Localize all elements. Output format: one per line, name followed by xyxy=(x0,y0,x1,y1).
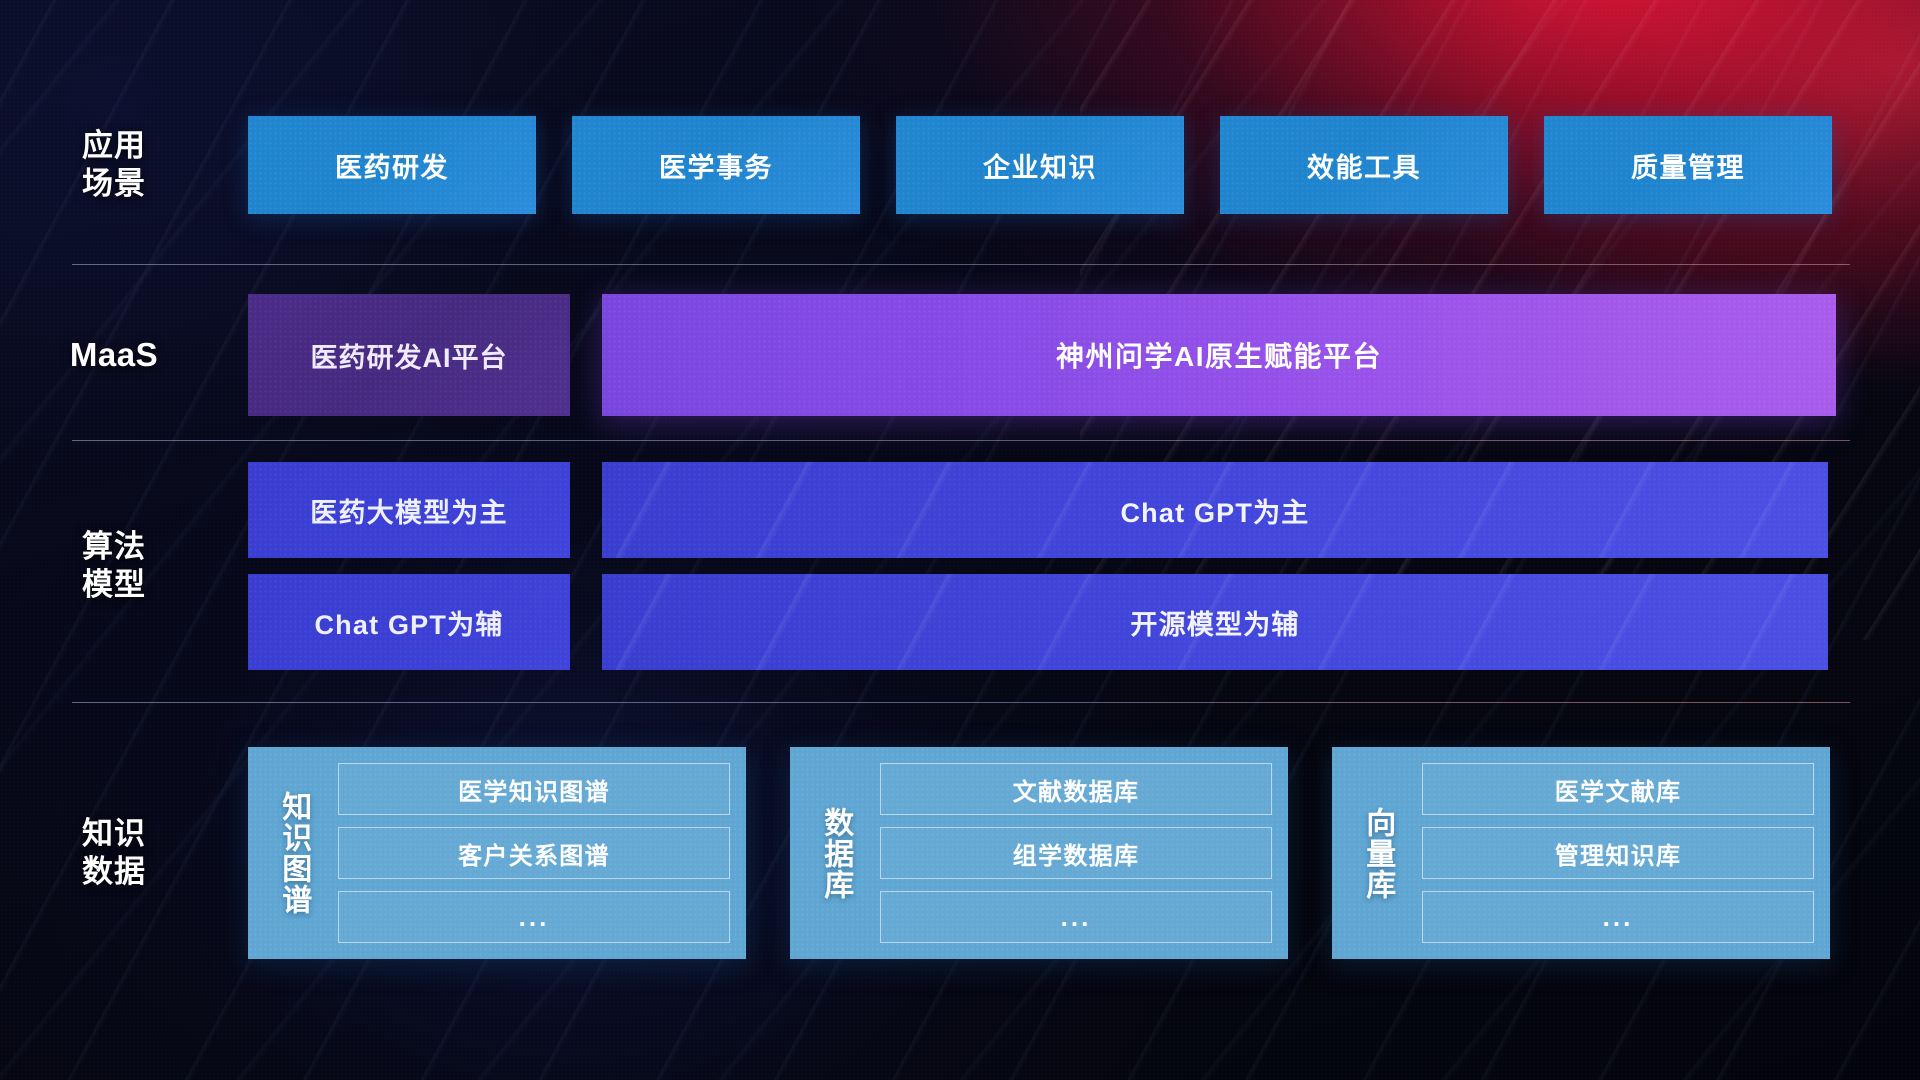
knowledge-panel-database[interactable]: 数据库 文献数据库 组学数据库 ... xyxy=(790,747,1288,959)
knowledge-item[interactable]: 医学文献库 xyxy=(1422,763,1814,815)
knowledge-item[interactable]: 组学数据库 xyxy=(880,827,1272,879)
algo-label: Chat GPT为主 xyxy=(1120,491,1309,530)
row-label-line-1: 知识 xyxy=(28,815,200,853)
row-content-algorithm-models: 医药大模型为主 Chat GPT为主 Chat GPT为辅 开源模型为辅 xyxy=(200,462,1920,670)
row-application-scenarios: 应用 场景 医药研发 医学事务 企业知识 效能工具 质量管理 xyxy=(0,100,1920,230)
knowledge-item[interactable]: 文献数据库 xyxy=(880,763,1272,815)
knowledge-item[interactable]: 医学知识图谱 xyxy=(338,763,730,815)
architecture-diagram: 应用 场景 医药研发 医学事务 企业知识 效能工具 质量管理 MaaS xyxy=(0,0,1920,1080)
knowledge-panel-title: 知识图谱 xyxy=(260,763,326,943)
knowledge-panel-title: 向量库 xyxy=(1344,763,1410,943)
algo-box-opensource-secondary[interactable]: 开源模型为辅 xyxy=(602,574,1828,670)
knowledge-item-more[interactable]: ... xyxy=(338,891,730,943)
scenario-label: 医药研发 xyxy=(335,146,449,185)
knowledge-panel-items: 文献数据库 组学数据库 ... xyxy=(868,763,1272,943)
scenario-label: 企业知识 xyxy=(983,146,1097,185)
maas-box-pharma-ai-platform[interactable]: 医药研发AI平台 xyxy=(248,294,570,416)
scenario-box-quality-management[interactable]: 质量管理 xyxy=(1544,116,1832,214)
row-knowledge-data: 知识 数据 知识图谱 医学知识图谱 客户关系图谱 ... 数据库 xyxy=(0,728,1920,978)
row-label-algorithm-models: 算法 模型 xyxy=(0,528,200,604)
maas-left-label: 医药研发AI平台 xyxy=(311,336,508,375)
row-maas: MaaS 医药研发AI平台 神州问学AI原生赋能平台 xyxy=(0,290,1920,420)
knowledge-panel-items: 医学知识图谱 客户关系图谱 ... xyxy=(326,763,730,943)
maas-box-group: 医药研发AI平台 神州问学AI原生赋能平台 xyxy=(200,294,1836,416)
scenario-box-medical-affairs[interactable]: 医学事务 xyxy=(572,116,860,214)
row-label-line-2: 数据 xyxy=(28,853,200,891)
diagram-canvas: 应用 场景 医药研发 医学事务 企业知识 效能工具 质量管理 MaaS xyxy=(0,0,1920,1080)
scenario-box-enterprise-knowledge[interactable]: 企业知识 xyxy=(896,116,1184,214)
knowledge-panel-vector-store[interactable]: 向量库 医学文献库 管理知识库 ... xyxy=(1332,747,1830,959)
algorithm-row-secondary: Chat GPT为辅 开源模型为辅 xyxy=(248,574,1828,670)
row-label-application-scenarios: 应用 场景 xyxy=(0,127,200,203)
separator-line-3 xyxy=(72,702,1850,703)
scenario-label: 效能工具 xyxy=(1307,146,1421,185)
knowledge-item[interactable]: 客户关系图谱 xyxy=(338,827,730,879)
maas-box-shenzhou-wenxue-platform[interactable]: 神州问学AI原生赋能平台 xyxy=(602,294,1836,416)
algorithm-row-primary: 医药大模型为主 Chat GPT为主 xyxy=(248,462,1828,558)
row-label-text: MaaS xyxy=(28,335,200,375)
row-content-maas: 医药研发AI平台 神州问学AI原生赋能平台 xyxy=(200,294,1920,416)
knowledge-item[interactable]: 管理知识库 xyxy=(1422,827,1814,879)
knowledge-item-more[interactable]: ... xyxy=(880,891,1272,943)
row-label-line-1: 算法 xyxy=(28,528,200,566)
scenario-box-drug-rnd[interactable]: 医药研发 xyxy=(248,116,536,214)
algo-label: 开源模型为辅 xyxy=(1130,603,1299,642)
scenario-box-efficiency-tools[interactable]: 效能工具 xyxy=(1220,116,1508,214)
row-content-application-scenarios: 医药研发 医学事务 企业知识 效能工具 质量管理 xyxy=(200,116,1920,214)
row-label-line-2: 模型 xyxy=(28,566,200,604)
algo-label: Chat GPT为辅 xyxy=(314,603,503,642)
scenario-box-group: 医药研发 医学事务 企业知识 效能工具 质量管理 xyxy=(200,116,1832,214)
algo-box-pharma-llm-primary[interactable]: 医药大模型为主 xyxy=(248,462,570,558)
separator-line-2 xyxy=(72,440,1850,441)
row-label-knowledge-data: 知识 数据 xyxy=(0,815,200,891)
scenario-label: 质量管理 xyxy=(1631,146,1745,185)
row-content-knowledge-data: 知识图谱 医学知识图谱 客户关系图谱 ... 数据库 文献数据库 组学数据库 .… xyxy=(200,747,1920,959)
row-label-maas: MaaS xyxy=(0,335,200,375)
algo-box-chatgpt-secondary[interactable]: Chat GPT为辅 xyxy=(248,574,570,670)
algo-label: 医药大模型为主 xyxy=(310,491,507,530)
row-label-line-2: 场景 xyxy=(28,165,200,203)
scenario-label: 医学事务 xyxy=(659,146,773,185)
row-algorithm-models: 算法 模型 医药大模型为主 Chat GPT为主 Chat GPT为辅 开源模型… xyxy=(0,462,1920,670)
row-label-line-1: 应用 xyxy=(28,127,200,165)
algorithm-box-group: 医药大模型为主 Chat GPT为主 Chat GPT为辅 开源模型为辅 xyxy=(200,462,1828,670)
knowledge-panel-knowledge-graph[interactable]: 知识图谱 医学知识图谱 客户关系图谱 ... xyxy=(248,747,746,959)
algo-box-chatgpt-primary[interactable]: Chat GPT为主 xyxy=(602,462,1828,558)
knowledge-panel-group: 知识图谱 医学知识图谱 客户关系图谱 ... 数据库 文献数据库 组学数据库 .… xyxy=(200,747,1830,959)
knowledge-panel-title: 数据库 xyxy=(802,763,868,943)
maas-right-label: 神州问学AI原生赋能平台 xyxy=(1056,335,1382,375)
knowledge-item-more[interactable]: ... xyxy=(1422,891,1814,943)
knowledge-panel-items: 医学文献库 管理知识库 ... xyxy=(1410,763,1814,943)
separator-line-1 xyxy=(72,264,1850,265)
